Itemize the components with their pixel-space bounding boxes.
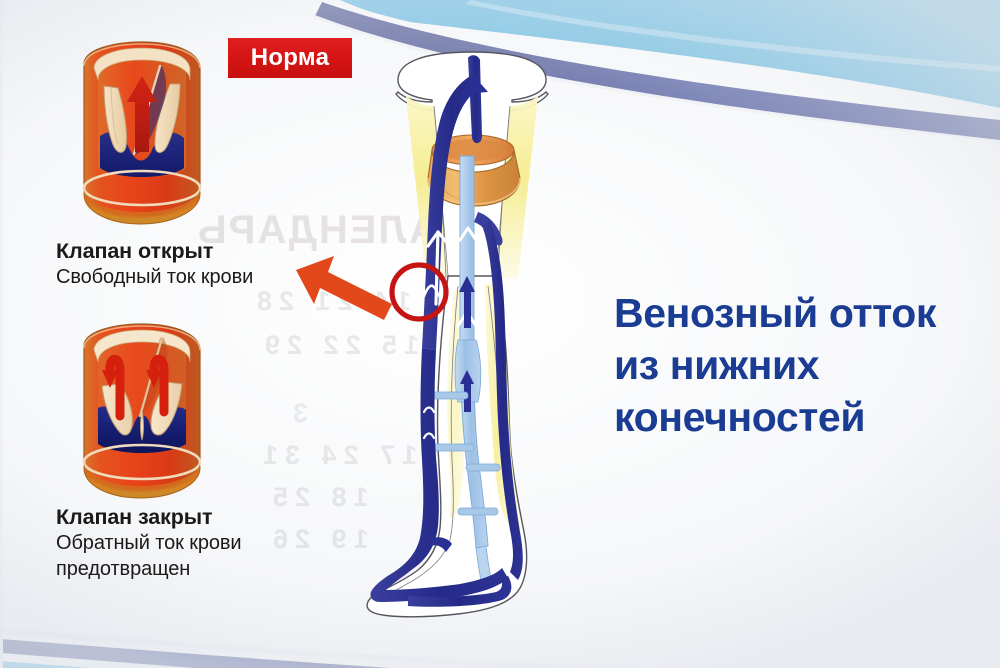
ghost-bleed-row: 19 26 <box>266 524 369 555</box>
poster-root: КАЛЕНДАРЬ 14 21 28 15 22 29 3 17 24 31 1… <box>0 0 1000 668</box>
page-title-line-2: из нижних <box>614 339 984 391</box>
closed-venous-valve-diagram <box>54 312 218 508</box>
caption-valve-open-title: Клапан открыт <box>56 238 253 265</box>
ghost-bleed-row: 18 25 <box>266 482 369 513</box>
caption-valve-open: Клапан открыт Свободный ток крови <box>56 238 253 291</box>
page-title: Венозный отток из нижних конечностей <box>614 287 984 443</box>
page-title-line-3: конечностей <box>614 391 984 443</box>
caption-valve-closed: Клапан закрыт Обратный ток крови предотв… <box>56 504 242 582</box>
caption-valve-closed-subtitle-line2: предотвращен <box>56 557 242 582</box>
ghost-bleed-row: 3 <box>286 398 308 429</box>
caption-valve-closed-title: Клапан закрыт <box>56 504 242 531</box>
status-badge: Норма <box>228 38 352 78</box>
lower-limb-venous-anatomy <box>362 40 582 620</box>
status-badge-label: Норма <box>251 46 330 70</box>
page-title-line-1: Венозный отток <box>614 287 984 339</box>
open-venous-valve-diagram <box>54 28 218 242</box>
caption-valve-closed-subtitle-line1: Обратный ток крови <box>56 531 242 556</box>
caption-valve-open-subtitle: Свободный ток крови <box>56 265 253 290</box>
